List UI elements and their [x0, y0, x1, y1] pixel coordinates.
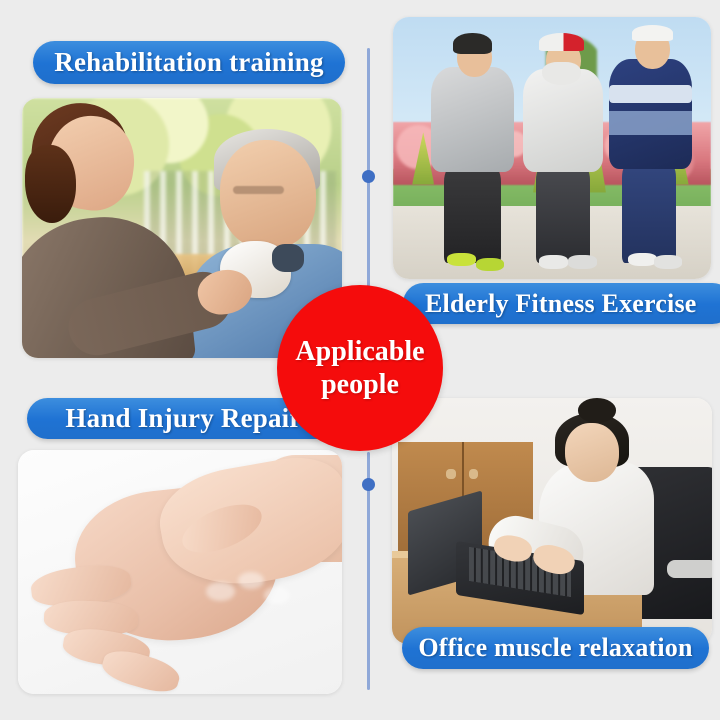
- office-cabinet-handle: [446, 469, 456, 479]
- jogger-two-beard: [542, 62, 580, 86]
- rehab-patient-brow: [233, 186, 284, 194]
- rehab-patient-head: [220, 140, 316, 249]
- office-worker-hair-bun: [578, 398, 616, 423]
- hand-scene: [18, 450, 342, 694]
- jogger-three-legs: [622, 161, 676, 263]
- jogger-two-legs: [536, 164, 590, 264]
- jogger-three-shoe: [654, 255, 683, 268]
- elderly-scene: [393, 17, 711, 279]
- jogger-three-stripe: [609, 85, 692, 103]
- rehab-cup-shadow: [272, 244, 304, 273]
- jogger-one-hair: [453, 33, 491, 54]
- office-scene: [392, 398, 712, 644]
- divider-dot-bottom: [362, 478, 375, 491]
- photo-elderly-fitness: [393, 17, 711, 279]
- photo-office-muscle-relaxation: [392, 398, 712, 644]
- label-text: Elderly Fitness Exercise: [425, 289, 697, 319]
- jogger-one-shoe: [476, 258, 505, 271]
- label-office-muscle-relaxation: Office muscle relaxation: [402, 627, 709, 669]
- center-badge-applicable-people: Applicable people: [277, 285, 443, 451]
- jogger-one-jacket: [431, 67, 514, 172]
- jogger-one-legs: [444, 164, 501, 264]
- poster-canvas: Rehabilitation training: [0, 0, 720, 720]
- jogger-three-stripe: [609, 111, 692, 135]
- badge-line-one: Applicable: [295, 335, 424, 368]
- hand-knuckle: [264, 587, 290, 604]
- office-cabinet-handle: [469, 469, 479, 479]
- jogger-one-shoe: [447, 253, 476, 266]
- label-text: Rehabilitation training: [54, 47, 323, 78]
- office-chair-armrest: [667, 560, 712, 577]
- jogger-two-shoe: [568, 255, 597, 268]
- jogger-two-cap: [539, 33, 584, 51]
- label-text: Office muscle relaxation: [418, 633, 692, 663]
- office-worker-head: [565, 423, 619, 482]
- rehab-caregiver-hair-back: [25, 145, 76, 223]
- jogger-three-headband: [632, 25, 673, 41]
- jogger-three-shoe: [628, 253, 657, 266]
- badge-line-two: people: [321, 368, 399, 401]
- label-text: Hand Injury Repair: [65, 403, 301, 434]
- divider-dot-top: [362, 170, 375, 183]
- jogger-two-shoe: [539, 255, 568, 268]
- label-rehabilitation-training: Rehabilitation training: [33, 41, 345, 84]
- photo-hand-injury-repair: [18, 450, 342, 694]
- label-elderly-fitness: Elderly Fitness Exercise: [403, 283, 720, 324]
